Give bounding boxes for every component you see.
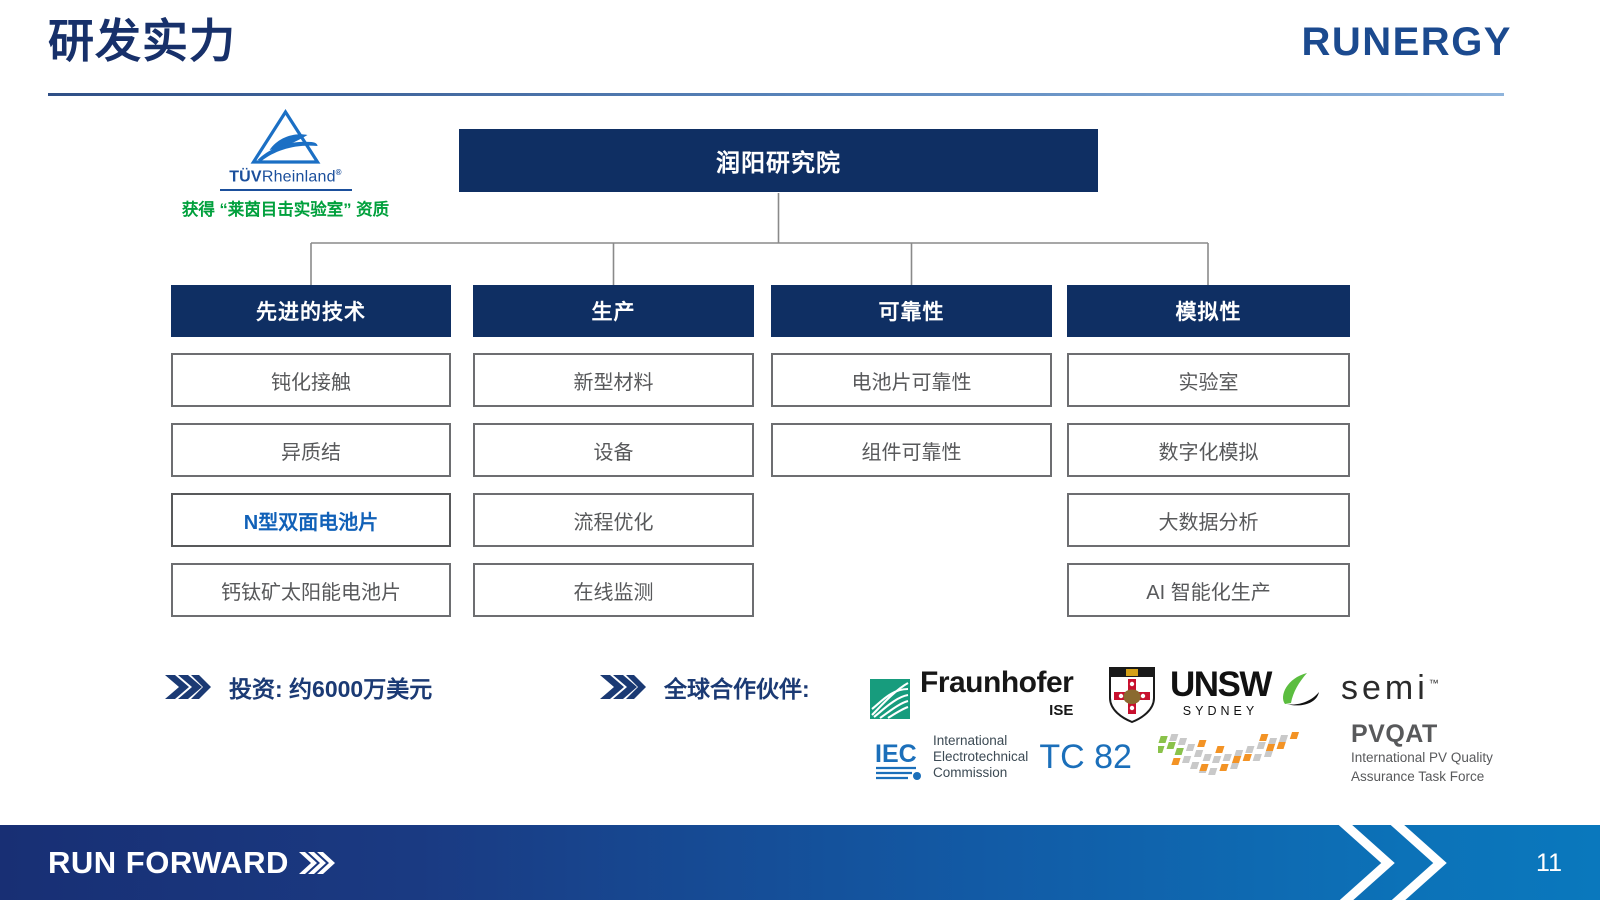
iec-tc-number: TC 82 xyxy=(1039,740,1132,774)
node-item[interactable]: 组件可靠性 xyxy=(771,423,1052,477)
node-item[interactable]: 设备 xyxy=(473,423,754,477)
column-header: 先进的技术 xyxy=(171,285,451,337)
pvqat-wave-icon xyxy=(1158,726,1343,782)
node-item[interactable]: 钝化接触 xyxy=(171,353,451,407)
node-item-highlighted[interactable]: N型双面电池片 xyxy=(171,493,451,547)
pvqat-logo: PVQAT International PV Quality Assurance… xyxy=(1158,722,1493,785)
unsw-city: SYDNEY xyxy=(1170,704,1271,718)
column-header: 模拟性 xyxy=(1067,285,1350,337)
semi-name: semi™ xyxy=(1341,671,1439,705)
node-item[interactable]: 在线监测 xyxy=(473,563,754,617)
svg-text:IEC: IEC xyxy=(875,740,917,768)
tuv-word-bold: TÜV xyxy=(229,168,262,185)
org-column-production: 生产 新型材料 设备 流程优化 在线监测 xyxy=(473,285,754,617)
fraunhofer-name: Fraunhofer xyxy=(920,668,1073,698)
tuv-underline xyxy=(220,189,352,191)
iec-logo: IEC International Electrotechnical Commi… xyxy=(872,732,1132,782)
node-item[interactable]: 新型材料 xyxy=(473,353,754,407)
unsw-crest-icon xyxy=(1104,662,1160,724)
column-header: 生产 xyxy=(473,285,754,337)
footer-double-chevron-icon xyxy=(1292,825,1482,900)
partners-label: 全球合作伙伴: xyxy=(664,670,810,704)
tuv-rheinland-badge: TÜVRheinland® 获得 “莱茵目击实验室” 资质 xyxy=(163,108,408,220)
node-item[interactable]: 数字化模拟 xyxy=(1067,423,1350,477)
page-number: 11 xyxy=(1536,849,1562,878)
iec-line-2: Electrotechnical xyxy=(933,749,1028,765)
investment-callout: 投资: 约6000万美元 xyxy=(165,670,432,704)
node-item[interactable]: 电池片可靠性 xyxy=(771,353,1052,407)
runergy-logo: RUNERGY xyxy=(1301,20,1512,65)
triple-chevron-icon xyxy=(165,672,211,702)
page-title: 研发实力 xyxy=(48,16,236,67)
tuv-word-thin: Rheinland xyxy=(262,168,336,185)
triple-chevron-icon xyxy=(600,672,646,702)
fraunhofer-logo: Fraunhofer ISE xyxy=(870,668,1073,719)
trademark-icon: ™ xyxy=(1429,679,1439,690)
tuv-wordmark: TÜVRheinland® xyxy=(163,168,408,186)
unsw-name: UNSW xyxy=(1170,668,1271,701)
org-column-simulation: 模拟性 实验室 数字化模拟 大数据分析 AI 智能化生产 xyxy=(1067,285,1350,617)
node-item[interactable]: 实验室 xyxy=(1067,353,1350,407)
title-divider xyxy=(48,93,1504,96)
semi-logo: semi™ xyxy=(1277,670,1439,706)
triple-chevron-icon xyxy=(299,850,339,876)
org-column-reliability: 可靠性 电池片可靠性 组件可靠性 xyxy=(771,285,1052,477)
slide-footer: RUN FORWARD 11 xyxy=(0,825,1600,900)
fraunhofer-institute: ISE xyxy=(920,702,1073,719)
pvqat-sub-line-2: Assurance Task Force xyxy=(1351,769,1493,785)
pvqat-sub-line-1: International PV Quality xyxy=(1351,750,1493,766)
tuv-triangle-icon xyxy=(163,108,408,170)
org-column-advanced-technology: 先进的技术 钝化接触 异质结 N型双面电池片 钙钛矿太阳能电池片 xyxy=(171,285,451,617)
unsw-logo: UNSW SYDNEY xyxy=(1104,662,1271,724)
investment-label: 投资: 约6000万美元 xyxy=(229,670,432,704)
fraunhofer-mark-icon xyxy=(870,679,910,719)
footer-tagline: RUN FORWARD xyxy=(48,845,339,881)
org-root-box: 润阳研究院 xyxy=(459,129,1098,192)
node-item[interactable]: 大数据分析 xyxy=(1067,493,1350,547)
registered-mark-icon: ® xyxy=(336,168,342,177)
tuv-caption: 获得 “莱茵目击实验室” 资质 xyxy=(163,196,408,220)
semi-word: semi xyxy=(1341,669,1429,707)
partner-logos: Fraunhofer ISE UNSW SYDNEY xyxy=(862,660,1502,800)
node-item[interactable]: AI 智能化生产 xyxy=(1067,563,1350,617)
node-item[interactable]: 流程优化 xyxy=(473,493,754,547)
column-header: 可靠性 xyxy=(771,285,1052,337)
node-item[interactable]: 钙钛矿太阳能电池片 xyxy=(171,563,451,617)
footer-tagline-text: RUN FORWARD xyxy=(48,845,289,881)
partners-callout: 全球合作伙伴: xyxy=(600,670,810,704)
iec-full-name: International Electrotechnical Commissio… xyxy=(933,733,1028,781)
iec-line-3: Commission xyxy=(933,765,1028,781)
semi-swoosh-icon xyxy=(1277,670,1333,706)
node-item[interactable]: 异质结 xyxy=(171,423,451,477)
iec-line-1: International xyxy=(933,733,1028,749)
pvqat-name: PVQAT xyxy=(1351,722,1493,747)
slide-root: 研发实力 RUNERGY TÜVRheinland® 获得 “莱茵目击实验室” … xyxy=(0,0,1600,900)
iec-mark-icon: IEC xyxy=(872,732,924,782)
